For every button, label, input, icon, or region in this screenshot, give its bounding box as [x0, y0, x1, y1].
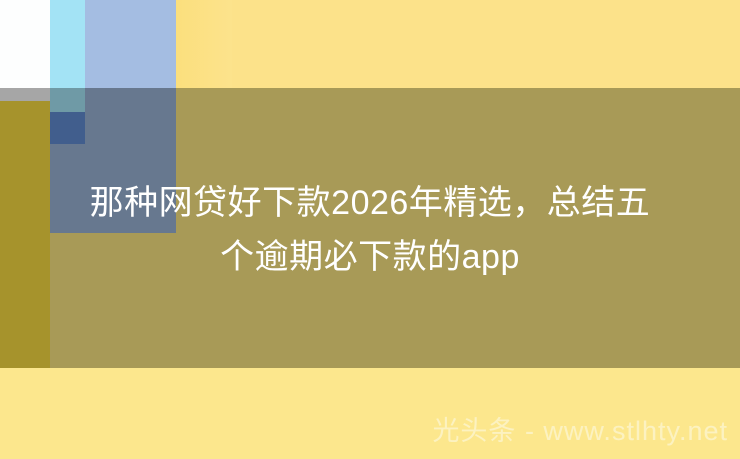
decorative-grey-strip-left: [0, 88, 50, 101]
headline-text: 那种网贷好下款2026年精选，总结五 个逾期必下款的app: [0, 176, 740, 284]
decorative-white-block: [0, 0, 50, 88]
watermark-text: 光头条 - www.stlhty.net: [432, 415, 728, 447]
decorative-yellow-block-top: [176, 0, 740, 88]
decorative-yellow-seam: [176, 0, 232, 88]
decorative-periwinkle-column: [85, 0, 176, 88]
decorative-cyan-column: [50, 0, 85, 88]
decorative-navy-patch: [50, 112, 85, 144]
promo-banner-image: 那种网贷好下款2026年精选，总结五 个逾期必下款的app 光头条 - www.…: [0, 0, 740, 459]
decorative-teal-patch: [50, 88, 85, 112]
